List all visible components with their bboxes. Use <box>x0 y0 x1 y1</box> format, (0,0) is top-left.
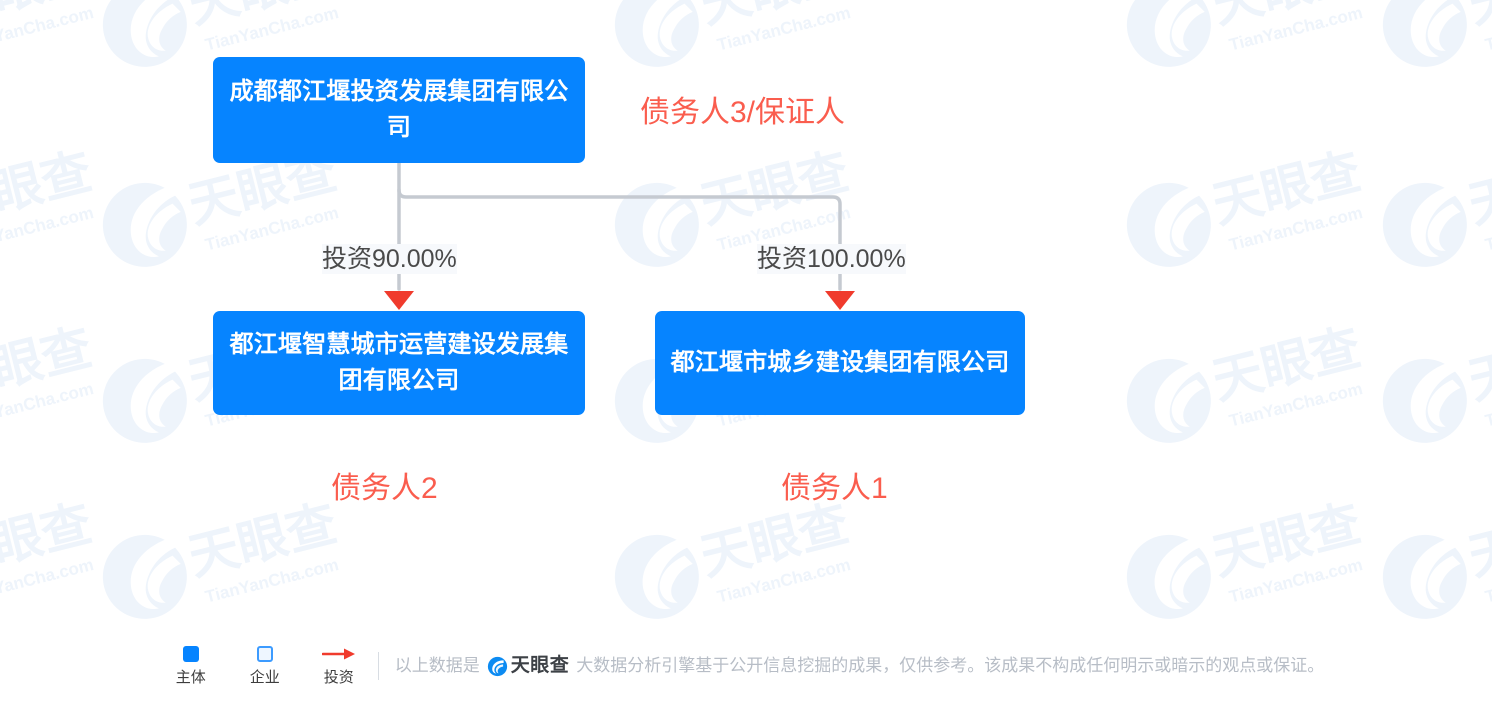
disclaimer-prefix: 以上数据是 <box>395 655 480 677</box>
watermark-tile: 天眼查TianYanCha.com <box>1119 0 1389 90</box>
watermark-tile: 天眼查TianYanCha.com <box>1375 316 1492 466</box>
svg-text:TianYanCha.com: TianYanCha.com <box>203 203 340 255</box>
watermark-tile: 天眼查TianYanCha.com <box>1119 140 1389 290</box>
svg-text:天眼查: 天眼查 <box>0 495 97 586</box>
svg-text:TianYanCha.com: TianYanCha.com <box>715 3 852 55</box>
svg-text:天眼查: 天眼查 <box>0 0 97 34</box>
org-node-root[interactable]: 成都都江堰投资发展集团有限公司 <box>213 57 585 163</box>
svg-text:天眼查: 天眼查 <box>695 143 854 234</box>
arrowhead-left-icon <box>384 291 414 310</box>
svg-text:天眼查: 天眼查 <box>1207 319 1366 410</box>
svg-text:TianYanCha.com: TianYanCha.com <box>1227 379 1364 431</box>
footer-disclaimer: 以上数据是 天眼查 大数据分析引擎基于公开信息挖掘的成果，仅供参考。该成果不构成… <box>395 655 1325 677</box>
svg-text:天眼查: 天眼查 <box>1463 0 1492 34</box>
svg-text:天眼查: 天眼查 <box>1463 319 1492 410</box>
tianyancha-wordmark: 天眼查 <box>511 655 570 677</box>
legend-label-investment: 投资 <box>324 669 354 687</box>
watermark-tile: 天眼查TianYanCha.com <box>0 140 120 290</box>
role-label-root: 债务人3/保证人 <box>640 95 845 131</box>
legend-item-subject: 主体 <box>168 645 214 687</box>
svg-text:天眼查: 天眼查 <box>183 0 342 34</box>
watermark-tile: 天眼查TianYanCha.com <box>607 492 877 642</box>
svg-text:TianYanCha.com: TianYanCha.com <box>1483 203 1492 255</box>
svg-text:天眼查: 天眼查 <box>0 143 97 234</box>
svg-text:TianYanCha.com: TianYanCha.com <box>1483 3 1492 55</box>
svg-text:TianYanCha.com: TianYanCha.com <box>1483 555 1492 607</box>
legend: 主体 企业 投资 <box>168 645 362 687</box>
watermark-tile: 天眼查TianYanCha.com <box>0 492 120 642</box>
hollow-square-icon <box>257 645 273 663</box>
watermark-tile: 天眼查TianYanCha.com <box>1119 316 1389 466</box>
svg-text:TianYanCha.com: TianYanCha.com <box>715 555 852 607</box>
footer-bar: 主体 企业 投资 以上数据是 <box>0 636 1492 696</box>
org-chart-canvas: 天眼查TianYanCha.com天眼查TianYanCha.com天眼查Tia… <box>0 0 1492 706</box>
watermark-tile: 天眼查TianYanCha.com <box>1375 492 1492 642</box>
svg-text:TianYanCha.com: TianYanCha.com <box>203 3 340 55</box>
svg-text:TianYanCha.com: TianYanCha.com <box>0 3 96 55</box>
svg-text:TianYanCha.com: TianYanCha.com <box>0 555 96 607</box>
svg-text:天眼查: 天眼查 <box>0 319 97 410</box>
svg-text:TianYanCha.com: TianYanCha.com <box>1227 555 1364 607</box>
watermark-tile: 天眼查TianYanCha.com <box>1119 492 1389 642</box>
role-label-left: 债务人2 <box>331 471 438 507</box>
legend-label-subject: 主体 <box>176 669 206 687</box>
svg-text:天眼查: 天眼查 <box>1463 495 1492 586</box>
role-label-right: 债务人1 <box>781 471 888 507</box>
svg-text:天眼查: 天眼查 <box>1463 143 1492 234</box>
svg-text:TianYanCha.com: TianYanCha.com <box>0 203 96 255</box>
org-node-right[interactable]: 都江堰市城乡建设集团有限公司 <box>655 311 1025 415</box>
watermark-tile: 天眼查TianYanCha.com <box>0 316 120 466</box>
svg-text:TianYanCha.com: TianYanCha.com <box>203 555 340 607</box>
edge-label-investment-left: 投资90.00% <box>322 244 457 274</box>
svg-text:天眼查: 天眼查 <box>183 495 342 586</box>
svg-text:天眼查: 天眼查 <box>1207 495 1366 586</box>
filled-square-icon <box>183 645 199 663</box>
watermark-tile: 天眼查TianYanCha.com <box>95 492 365 642</box>
svg-text:天眼查: 天眼查 <box>695 0 854 34</box>
svg-text:天眼查: 天眼查 <box>1207 0 1366 34</box>
legend-item-investment: 投资 <box>316 645 362 687</box>
svg-text:TianYanCha.com: TianYanCha.com <box>1227 3 1364 55</box>
arrowhead-right-icon <box>825 291 855 310</box>
legend-item-enterprise: 企业 <box>242 645 288 687</box>
disclaimer-suffix: 大数据分析引擎基于公开信息挖掘的成果，仅供参考。该成果不构成任何明示或暗示的观点… <box>576 655 1324 677</box>
edge-label-investment-right: 投资100.00% <box>757 244 906 274</box>
svg-text:TianYanCha.com: TianYanCha.com <box>0 379 96 431</box>
tianyancha-logo: 天眼查 <box>487 655 570 677</box>
watermark-tile: 天眼查TianYanCha.com <box>607 0 877 90</box>
tianyancha-mark-icon <box>487 656 508 677</box>
svg-text:TianYanCha.com: TianYanCha.com <box>1227 203 1364 255</box>
red-arrow-icon <box>322 645 356 663</box>
svg-text:天眼查: 天眼查 <box>695 495 854 586</box>
watermark-tile: 天眼查TianYanCha.com <box>1375 0 1492 90</box>
svg-text:天眼查: 天眼查 <box>1207 143 1366 234</box>
legend-label-enterprise: 企业 <box>250 669 280 687</box>
watermark-tile: 天眼查TianYanCha.com <box>1375 140 1492 290</box>
org-node-left[interactable]: 都江堰智慧城市运营建设发展集团有限公司 <box>213 311 585 415</box>
footer-divider <box>378 652 379 680</box>
watermark-tile: 天眼查TianYanCha.com <box>0 0 120 90</box>
svg-text:TianYanCha.com: TianYanCha.com <box>1483 379 1492 431</box>
